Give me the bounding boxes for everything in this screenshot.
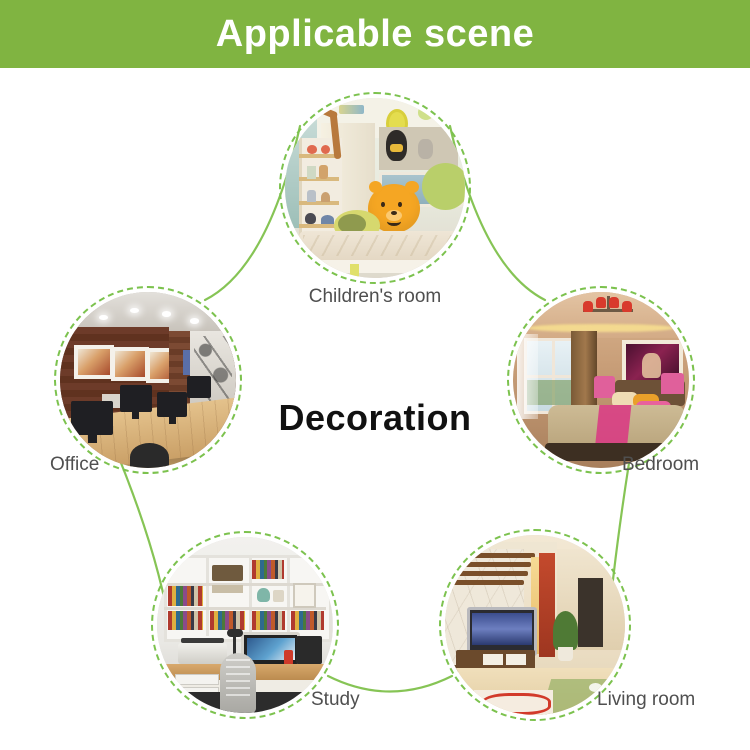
diagram-stage: Decoration [0,68,750,750]
scene-living-room [445,535,625,715]
label-office: Office [50,455,99,474]
scene-children-room [285,98,465,278]
pentagon-diagram: Decoration [0,0,750,750]
photo-study[interactable] [157,537,333,713]
label-living-room: Living room [597,690,695,709]
photo-bedroom[interactable] [513,292,689,468]
scene-study [157,537,333,713]
photo-office[interactable] [60,292,236,468]
scene-office [60,292,236,468]
label-bedroom: Bedroom [622,455,699,474]
photo-children-room[interactable] [285,98,465,278]
scene-bedroom [513,292,689,468]
label-study: Study [311,690,360,709]
photo-living-room[interactable] [445,535,625,715]
applicable-scene-infographic: Applicable scene Deco [0,0,750,750]
